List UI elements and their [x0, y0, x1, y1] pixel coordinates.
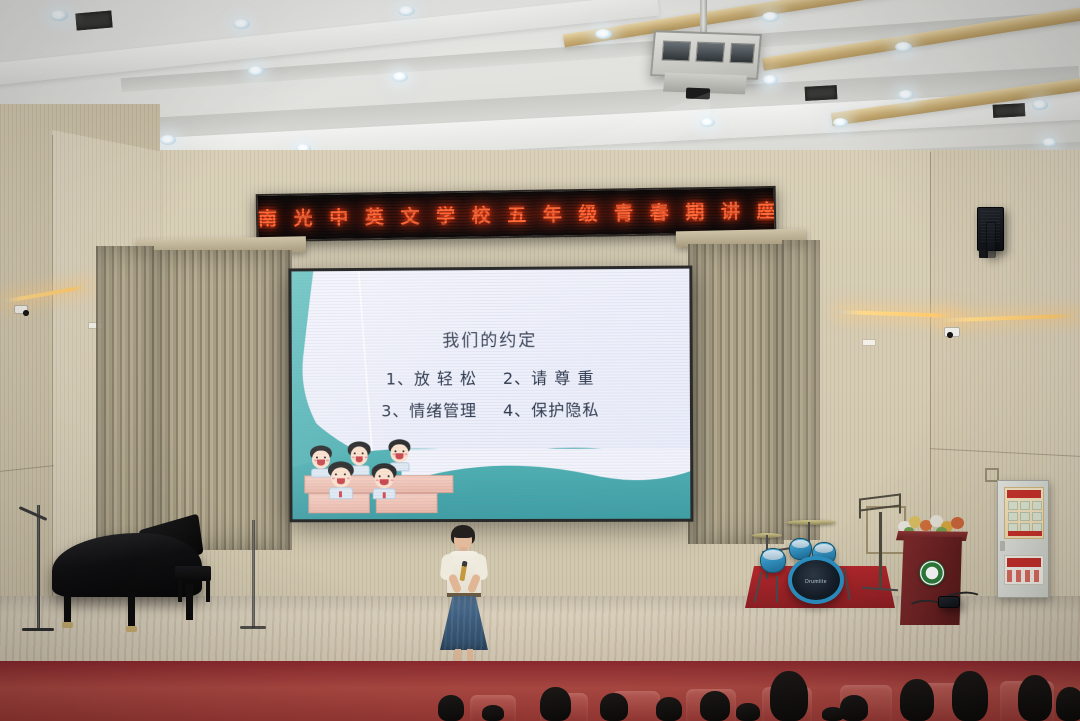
- downlight: [233, 19, 250, 29]
- mic-stand-base: [240, 626, 266, 629]
- audience-head: [438, 695, 464, 721]
- bench-leg: [178, 580, 182, 602]
- downlight: [895, 42, 912, 52]
- bench-leg: [206, 580, 210, 602]
- downlight: [762, 12, 779, 22]
- downlight: [248, 66, 264, 76]
- projection-screen: 我们的约定 1、放 轻 松 2、请 尊 重 3、情绪管理 4、保护隐私: [288, 266, 693, 523]
- downlight: [595, 29, 612, 39]
- audience-head: [600, 693, 628, 721]
- slide-row-2: 3、情绪管理 4、保护隐私: [292, 396, 690, 422]
- wall-speaker: [986, 222, 996, 258]
- air-vent: [75, 10, 112, 30]
- downlight: [398, 6, 415, 16]
- mic-stand-base: [22, 628, 54, 631]
- audience-head: [952, 671, 988, 721]
- cartoon-student: [372, 463, 397, 490]
- cymbal: [786, 520, 836, 525]
- downlight: [160, 135, 176, 145]
- piano-bench: [175, 566, 211, 581]
- air-vent: [805, 85, 838, 101]
- cartoon-student: [328, 461, 354, 489]
- audience-head: [822, 707, 844, 721]
- fire-hose-cabinet: [997, 480, 1049, 598]
- audience-head: [540, 687, 571, 721]
- slide-cartoon-students: [304, 431, 484, 515]
- wall-sign-plate: [862, 339, 876, 346]
- stage-curtain-left: [152, 250, 292, 550]
- slide-item-2: 2、请 尊 重: [503, 364, 595, 388]
- audience-head: [900, 679, 934, 721]
- audience-head: [656, 697, 682, 721]
- floor-monitor-speaker: [938, 596, 960, 608]
- auditorium-photo: 南 光 中 英 文 学 校 五 年 级 青 春 期 讲 座 我们的约定 1、放 …: [0, 0, 1080, 721]
- presenter-skirt: [440, 596, 488, 650]
- slide-surface: 我们的约定 1、放 轻 松 2、请 尊 重 3、情绪管理 4、保护隐私: [291, 269, 690, 520]
- security-camera: [944, 327, 960, 337]
- audience-head: [1018, 675, 1052, 721]
- cartoon-student: [388, 439, 410, 463]
- microphone-stand: [252, 520, 255, 628]
- downlight: [833, 118, 848, 127]
- audience-head: [840, 695, 868, 721]
- projector-lens: [686, 88, 710, 100]
- piano-foot: [62, 622, 73, 628]
- audience-head: [700, 691, 730, 721]
- slide-item-4: 4、保护隐私: [503, 397, 600, 421]
- piano-leg: [128, 592, 135, 628]
- audience-head: [770, 671, 808, 721]
- slide-row-1: 1、放 轻 松 2、请 尊 重: [292, 364, 690, 390]
- drum-leg: [776, 576, 778, 602]
- piano-leg: [64, 588, 71, 624]
- slide-title: 我们的约定: [292, 325, 690, 352]
- downlight: [762, 75, 778, 85]
- audience-head: [736, 703, 760, 721]
- floor-tom: [760, 548, 786, 573]
- downlight: [1032, 100, 1048, 110]
- security-camera: [14, 305, 28, 314]
- stage-curtain-left-outer: [96, 246, 154, 556]
- downlight: [898, 90, 914, 100]
- fire-hydrant-label: [1004, 555, 1044, 585]
- downlight: [392, 72, 408, 82]
- audience-head: [1056, 687, 1080, 721]
- slide-item-3: 3、情绪管理: [381, 397, 477, 421]
- presenter-fringe: [453, 529, 473, 538]
- fire-safety-poster: [1004, 487, 1044, 539]
- air-vent: [993, 103, 1026, 118]
- stage-curtain-right-outer: [782, 240, 820, 540]
- downlight: [700, 118, 715, 127]
- downlight: [50, 10, 68, 21]
- piano-foot: [126, 626, 137, 632]
- bass-drum: Drumlite: [788, 556, 844, 604]
- music-stand-pole: [879, 512, 882, 590]
- audience-head: [482, 705, 504, 721]
- microphone-stand: [37, 505, 40, 630]
- piano-leg: [186, 584, 193, 620]
- drum-brand-label: Drumlite: [805, 579, 827, 585]
- slide-item-1: 1、放 轻 松: [386, 365, 477, 389]
- school-emblem-icon: [919, 560, 945, 586]
- presenter: [432, 525, 496, 675]
- stage-curtain-right: [688, 244, 784, 544]
